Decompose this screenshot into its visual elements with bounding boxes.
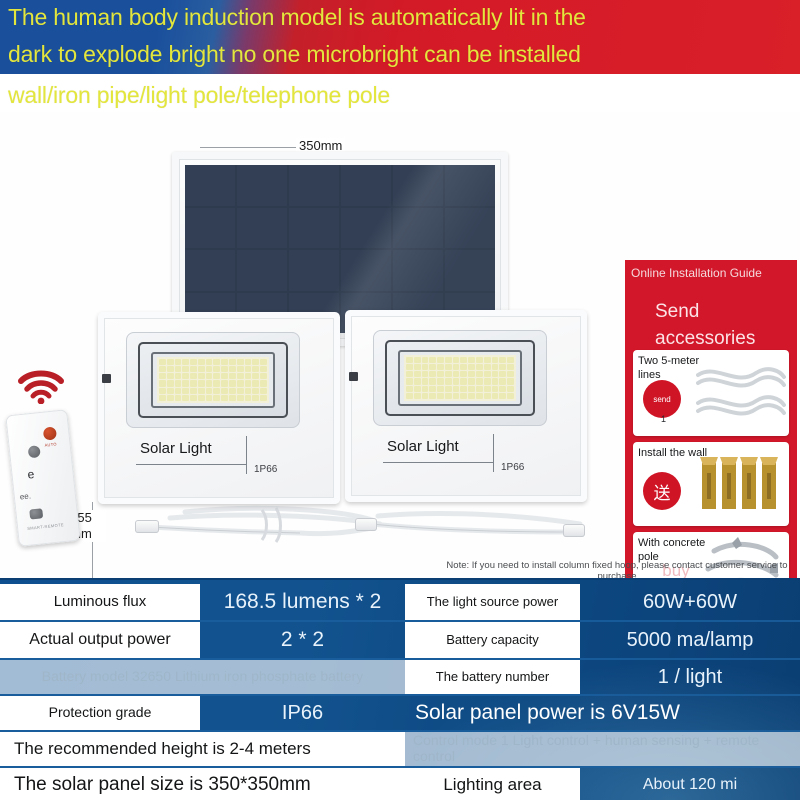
lamp-label-tick [493,434,494,472]
lamp-label-tick [246,436,247,474]
solar-cell [445,208,495,249]
solar-lamp-right: Solar Light 1P66 [345,310,587,502]
spec-key-battery-capacity: Battery capacity [405,622,580,658]
promo-headline-line-1: The human body induction model is automa… [8,4,586,31]
installation-guide-title: Online Installation Guide [631,266,791,281]
lamp-side-port [102,374,111,383]
spec-key-luminous-flux: Luminous flux [0,584,200,620]
accessory-card-cables[interactable]: Two 5-meter lines send 1 [633,350,789,436]
spec-key-recommended-height: The recommended height is 2-4 meters [0,732,405,766]
panel-width-label: 350mm [296,138,345,153]
solar-cell [341,208,391,249]
spec-key-solar-panel-size: The solar panel size is 350*350mm [0,768,405,802]
send-badge: 送 [643,472,681,510]
solar-cell [289,250,339,291]
lamp-lens-inner [398,350,522,406]
cable-coil-illustration [696,353,786,433]
lamp-lens-housing [373,330,547,426]
solar-cell [393,165,443,206]
solar-cell [393,208,443,249]
solar-lamp-left: Solar Light 1P66 [98,312,340,504]
spec-key-battery-model: Battery model 32650 Lithium iron phospha… [0,660,405,694]
solar-cell [237,165,287,206]
lamp-lens-frame [138,342,288,418]
spec-key-actual-output-power: Actual output power [0,622,200,658]
cable-plug-left [135,520,159,533]
spec-row: The solar panel size is 350*350mm Lighti… [0,768,800,802]
spec-row: Actual output power 2 * 2 Battery capaci… [0,622,800,658]
specification-table: Luminous flux 168.5 lumens * 2 The light… [0,578,800,800]
solar-cell [185,165,235,206]
lamp-lens-inner [151,352,275,408]
lamp-lens-frame [385,340,535,416]
solar-cell [185,250,235,291]
solar-cell [445,165,495,206]
lamp-ip-rating: 1P66 [254,464,277,475]
solar-cell [341,165,391,206]
remote-mode-button[interactable] [28,445,41,458]
solar-cell [341,250,391,291]
lamp-led-array [157,357,269,403]
solar-cell [185,208,235,249]
spec-value-actual-output-power: 2 * 2 [200,622,405,658]
remote-auto-label: AUTO [44,441,57,447]
spec-key-light-source-power: The light source power [405,584,580,620]
spec-row: Battery model 32650 Lithium iron phospha… [0,660,800,694]
remote-brand-label: SMART-REMOTE [27,522,64,531]
spec-key-lighting-area: Lighting area [405,768,580,802]
lamp-led-array [404,355,516,401]
spec-key-battery-number: The battery number [405,660,580,694]
lamp-ip-rating: 1P66 [501,462,524,473]
solar-cell [393,250,443,291]
spec-key-protection-grade: Protection grade [0,696,200,730]
remote-power-button[interactable] [43,426,57,440]
solar-cell [237,208,287,249]
accessory-count: 1 [661,414,666,424]
panel-width-dimension-line [200,147,300,148]
remote-control-image: AUTO e ee. SMART-REMOTE [5,409,80,547]
lamp-brand-label: Solar Light [140,440,212,457]
lamp-lens-housing [126,332,300,428]
lamp-label-underline [383,462,493,463]
remote-extra-button[interactable] [29,508,43,519]
cable-plug-right [563,524,585,537]
product-photo-area: 350mm 350mm 155mm 190mm [0,112,800,575]
spec-row: Protection grade IP66 Solar panel power … [0,696,800,730]
solar-cell [289,208,339,249]
lamp-side-port [349,372,358,381]
solar-cell [445,250,495,291]
spec-value-lighting-area: About 120 mi [580,768,800,802]
solar-panel-cell-grid [185,165,495,333]
spec-value-battery-number: 1 / light [580,660,800,694]
wireless-signal-dot [38,398,45,404]
remote-primary-label: e [27,467,35,482]
solar-cell [237,250,287,291]
lamp-label-underline [136,464,246,465]
spec-value-luminous-flux: 168.5 lumens * 2 [200,584,405,620]
send-badge: send [643,380,681,418]
spec-key-solar-panel-power: Solar panel power is 6V15W [405,696,800,730]
spec-value-light-source-power: 60W+60W [580,584,800,620]
solar-cell [289,165,339,206]
accessory-card-wall-screws[interactable]: Install the wall 送 [633,442,789,526]
expansion-screws-illustration [696,445,786,525]
send-accessories-title: Send accessories [655,298,795,352]
wireless-signal-icon [18,370,64,404]
remote-secondary-label: ee. [19,491,31,501]
lamp-brand-label: Solar Light [387,438,459,455]
spec-row: The recommended height is 2-4 meters Con… [0,732,800,766]
spec-row: Luminous flux 168.5 lumens * 2 The light… [0,584,800,620]
spec-value-protection-grade: IP66 [200,696,405,730]
promo-headline-line-3: wall/iron pipe/light pole/telephone pole [8,82,390,109]
promo-headline-line-2: dark to explode bright no one microbrigh… [8,41,581,68]
spec-value-battery-capacity: 5000 ma/lamp [580,622,800,658]
spec-key-control-mode: Control mode 1 Light control + human sen… [405,732,800,766]
cable-plug-mid [355,518,377,531]
